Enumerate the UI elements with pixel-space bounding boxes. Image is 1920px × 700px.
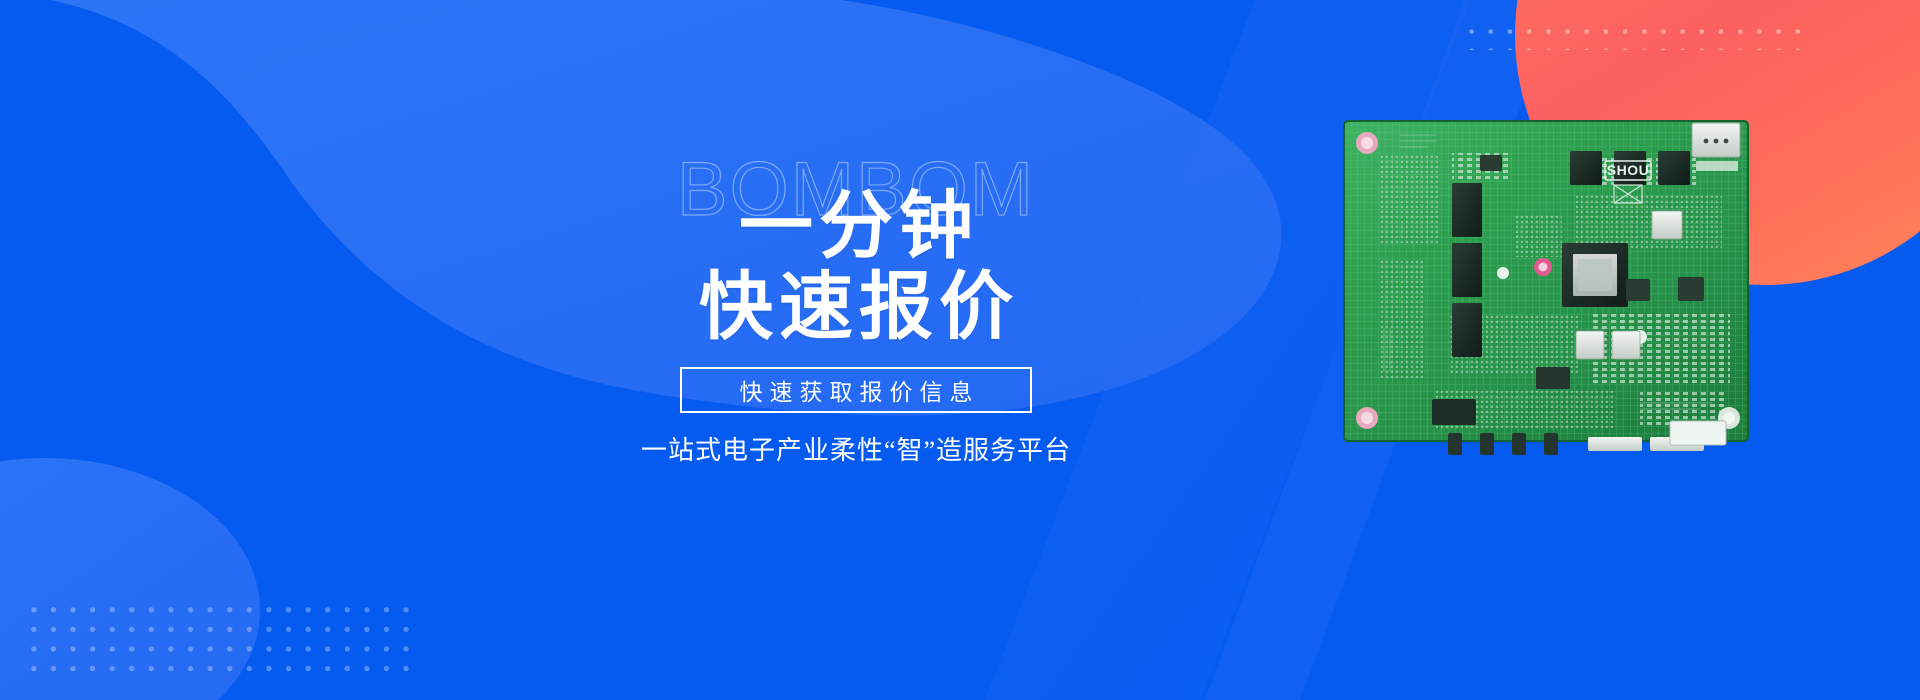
- pcb-processor: [1562, 243, 1628, 307]
- get-quote-button[interactable]: 快速获取报价信息: [680, 367, 1032, 413]
- pcb-illustration: SHOU: [1340, 115, 1756, 460]
- pcb-board-image: SHOU: [1340, 115, 1756, 460]
- dot-grid-top-right: [1462, 22, 1808, 50]
- pcb-connector-top: [1692, 123, 1740, 171]
- dot-grid-bottom-left: [24, 600, 414, 678]
- get-quote-button-label: 快速获取报价信息: [733, 373, 980, 407]
- svg-text:SHOU: SHOU: [1607, 162, 1649, 178]
- promo-banner: BOMBOM 一分钟 快速报价 快速获取报价信息 一站式电子产业柔性“智”造服务…: [0, 0, 1920, 700]
